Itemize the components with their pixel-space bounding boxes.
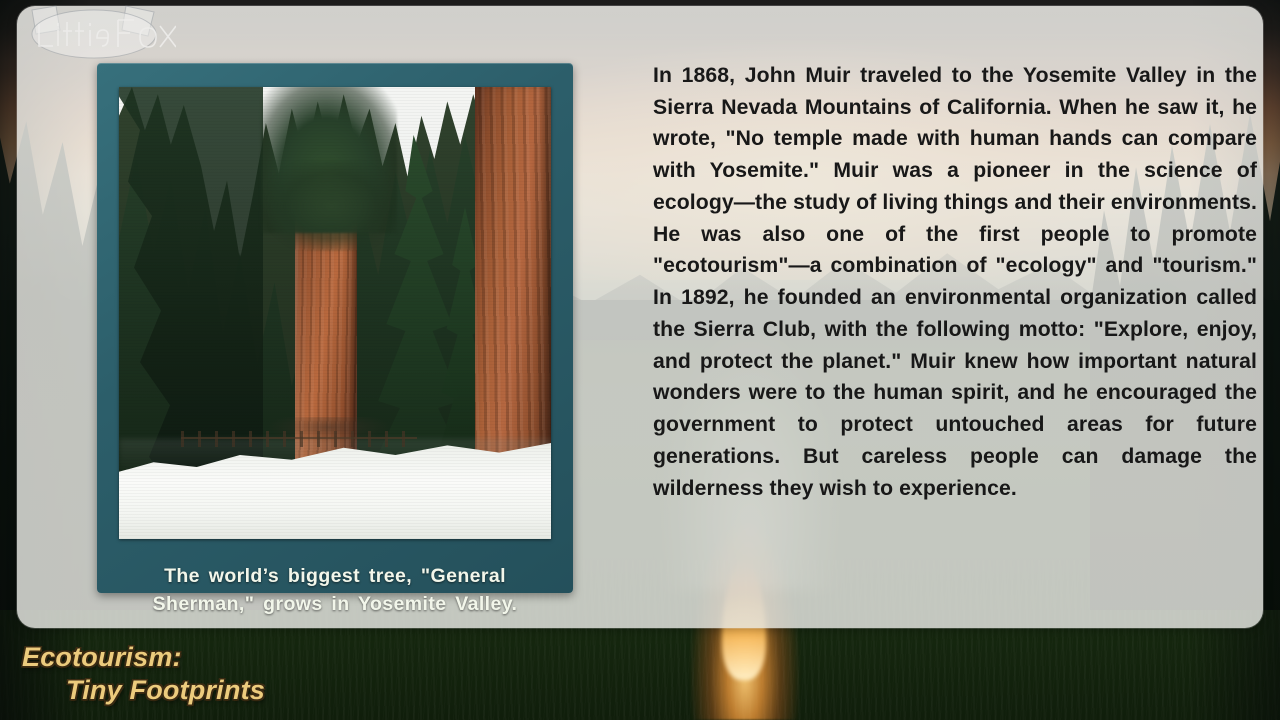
article-body-text: In 1868, John Muir traveled to the Yosem… bbox=[653, 60, 1257, 504]
lesson-title: Ecotourism: Tiny Footprints bbox=[0, 636, 700, 720]
content-panel: The world’s biggest tree, "General Sherm… bbox=[17, 6, 1263, 628]
photo-caption: The world’s biggest tree, "General Sherm… bbox=[119, 563, 551, 618]
lesson-title-line-2: Tiny Footprints bbox=[66, 675, 265, 706]
photo-sequoia-foliage bbox=[269, 161, 389, 251]
photo-fence-posts bbox=[181, 431, 417, 447]
giant-sequoia-grove-photo bbox=[119, 87, 551, 539]
little-fox-logo bbox=[8, 4, 176, 62]
photo-card: The world’s biggest tree, "General Sherm… bbox=[97, 63, 573, 593]
article-paragraph: In 1868, John Muir traveled to the Yosem… bbox=[653, 60, 1257, 504]
lesson-title-line-1: Ecotourism: bbox=[22, 642, 182, 673]
